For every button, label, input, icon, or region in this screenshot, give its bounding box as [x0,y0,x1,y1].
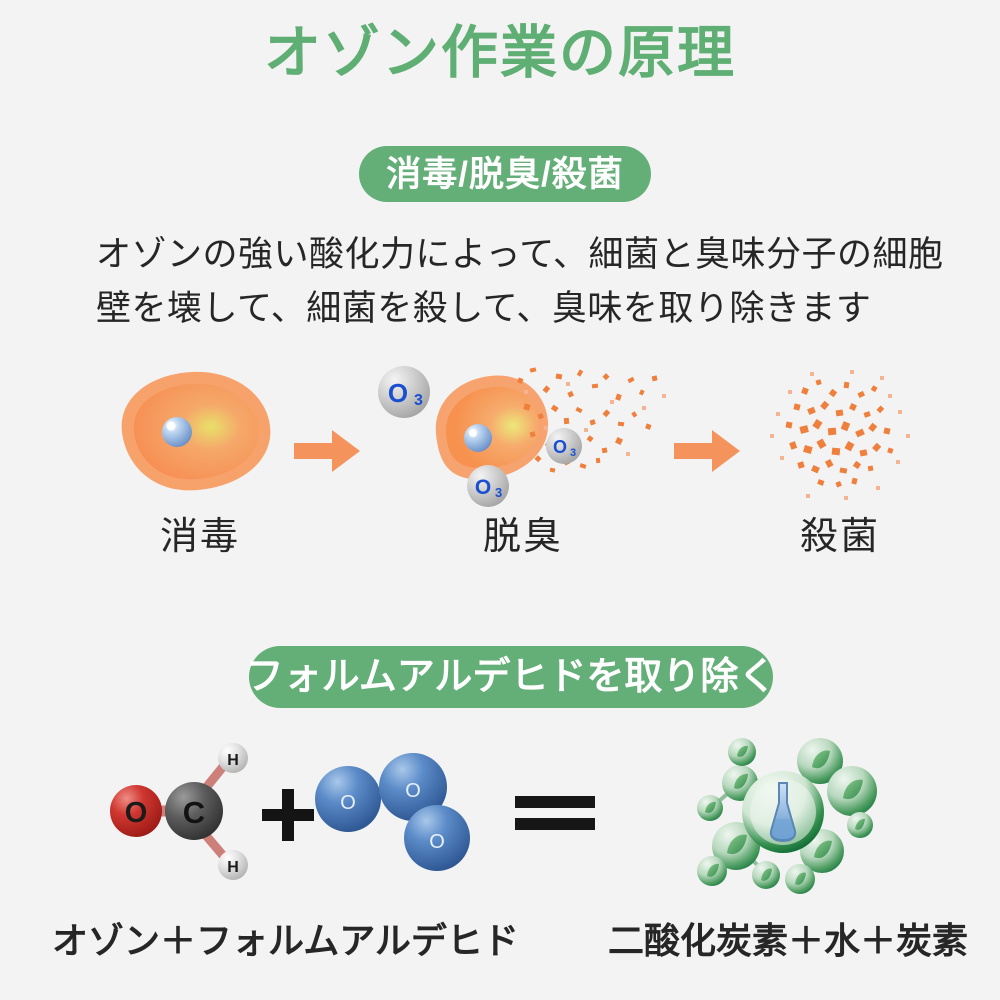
ozone-sphere-icon: O 3 [467,465,509,507]
destroyed-cell-debris-icon [740,360,940,510]
svg-text:O: O [475,476,491,499]
svg-text:H: H [227,859,239,876]
page-title: オゾン作業の原理 [0,22,1000,85]
svg-text:O: O [405,780,421,802]
section-one-description: オゾンの強い酸化力によって、細菌と臭味分子の細胞壁を壊して、細菌を殺して、臭味を… [96,228,944,337]
stage-label-disinfect: 消毒 [110,505,290,560]
ozone-sphere-icon: O 3 [546,428,582,464]
svg-text:O: O [553,437,567,457]
caption-reactants: オゾン＋フォルムアルデヒド [52,912,519,964]
chemical-equation-row: O C H H O [0,735,1000,895]
right-arrow-icon [292,428,362,474]
svg-text:H: H [227,752,239,769]
right-arrow-icon [672,428,742,474]
svg-text:O: O [388,378,408,408]
caption-products: 二酸化炭素＋水＋炭素 [608,912,968,964]
svg-text:O: O [429,831,445,853]
cell-attacked-by-ozone-icon: O 3 O 3 O 3 [378,360,668,510]
eco-molecule-cluster-icon [670,727,895,897]
svg-text:O: O [125,797,148,829]
status-badge-disinfect-deodorize-sterilize: 消毒/脱臭/殺菌 [359,146,651,202]
intact-cell-icon [110,360,290,510]
stage-label-sterilize: 殺菌 [740,505,940,560]
status-badge-remove-formaldehyde: フォルムアルデヒドを取り除く [249,646,773,708]
stage-label-deodorize: 脱臭 [378,505,668,560]
equals-operator-icon [515,793,595,833]
formaldehyde-molecule-icon: O C H H [100,735,270,885]
svg-text:3: 3 [414,392,423,409]
plus-operator-icon [262,789,314,841]
ozone-sphere-icon: O 3 [378,366,430,418]
ozone-molecule-icon: O O O [312,753,482,873]
svg-text:C: C [183,795,205,830]
svg-text:3: 3 [570,447,576,459]
svg-text:3: 3 [495,485,502,500]
svg-text:O: O [340,792,356,814]
